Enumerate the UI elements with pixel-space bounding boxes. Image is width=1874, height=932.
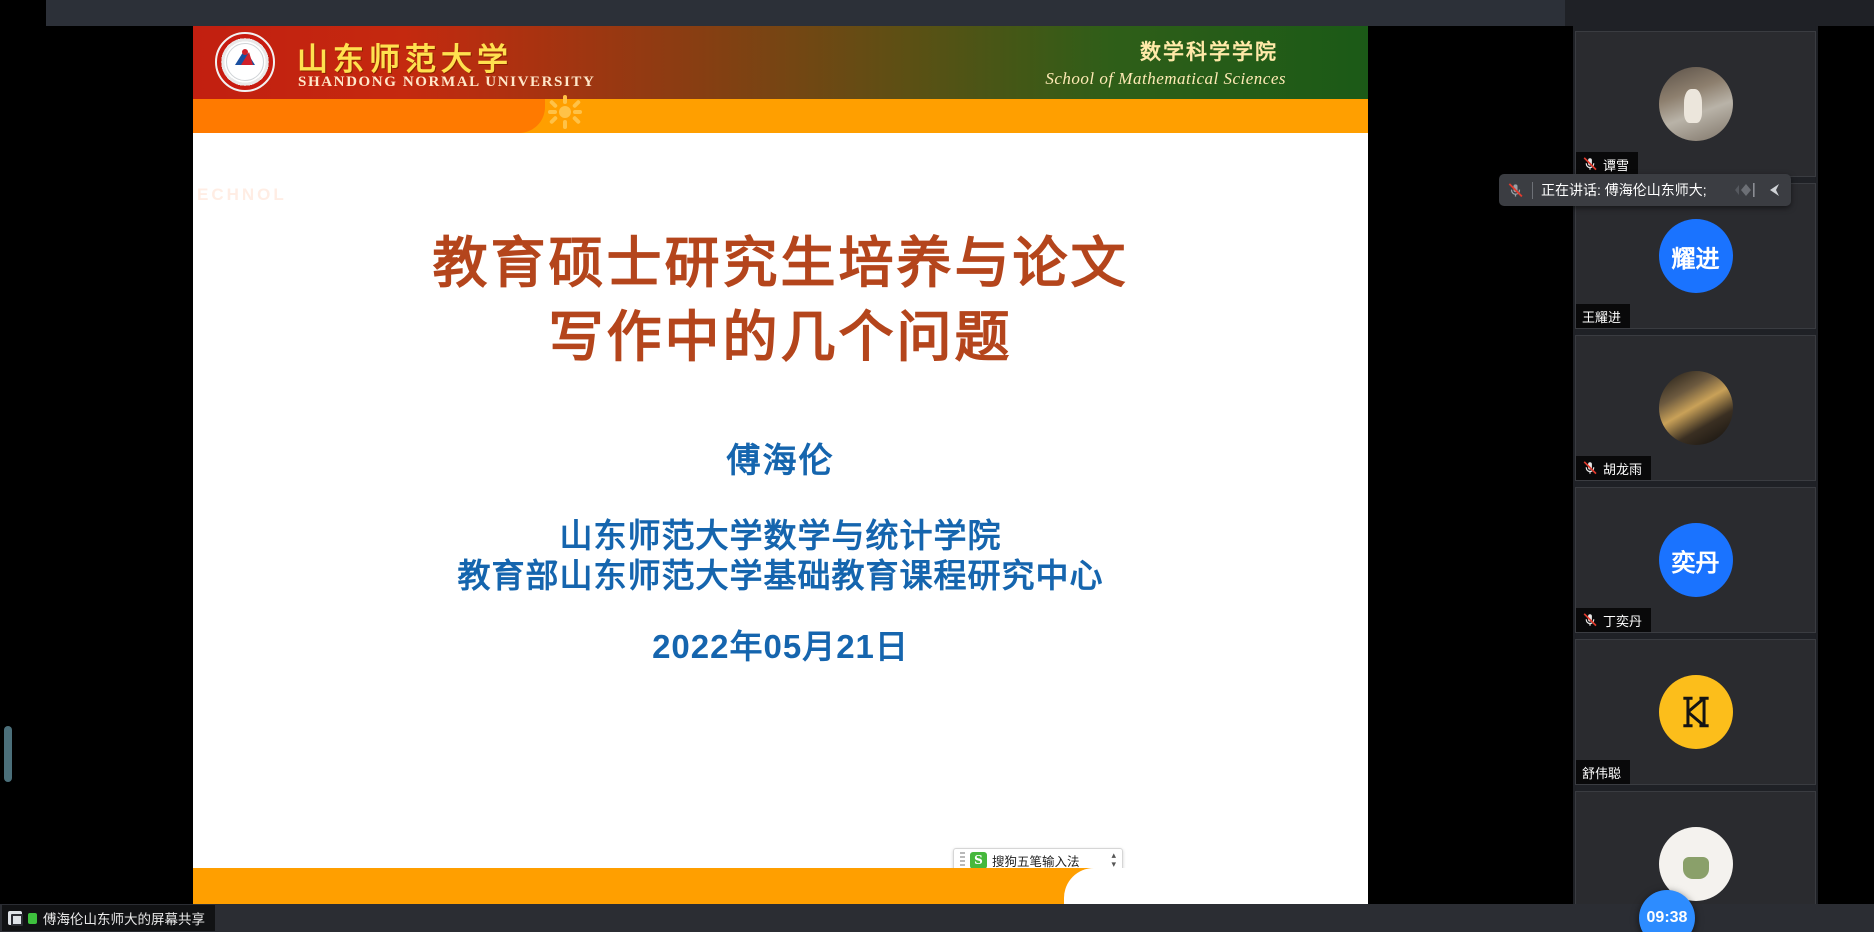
slide-content: 教育硕士研究生培养与论文 写作中的几个问题 傅海伦 山东师范大学数学与统计学院 … xyxy=(193,133,1368,868)
banner-school-cn: 数学科学学院 xyxy=(1140,36,1278,66)
participant-label: 丁奕丹 xyxy=(1576,608,1651,632)
slide-org-line1: 山东师范大学数学与统计学院 xyxy=(193,516,1368,556)
band-notch xyxy=(193,99,545,133)
shared-screen-slide: 山东师范大学 SHANDONG NORMAL UNIVERSITY 数学科学学院… xyxy=(193,26,1368,906)
taskbar-item-label: 傅海伦山东师大的屏幕共享 xyxy=(43,908,205,928)
bottom-band-notch xyxy=(1064,868,1368,906)
left-black-gutter xyxy=(0,26,193,880)
scrollbar-thumb[interactable] xyxy=(4,726,12,782)
window-chrome-bar xyxy=(0,0,1874,26)
participant-label: 谭雪 xyxy=(1576,152,1638,176)
taskbar: 傅海伦山东师大的屏幕共享 xyxy=(0,904,1874,932)
banner-divider xyxy=(1532,182,1533,199)
banner-university-cn: 山东师范大学 xyxy=(297,34,513,79)
participant-tile[interactable]: 舒伟聪 xyxy=(1575,639,1816,785)
avatar xyxy=(1659,675,1733,749)
slide-title-line2: 写作中的几个问题 xyxy=(193,300,1368,374)
participant-name: 谭雪 xyxy=(1603,155,1629,174)
mic-muted-icon xyxy=(1582,460,1598,476)
participant-name: 丁奕丹 xyxy=(1603,611,1642,630)
slide-title: 教育硕士研究生培养与论文 写作中的几个问题 xyxy=(193,226,1368,373)
participant-tile[interactable]: 胡龙雨 xyxy=(1575,335,1816,481)
participants-panel: 谭雪 耀进 王耀进 胡龙雨 奕丹 xyxy=(1573,26,1818,906)
slide-header-banner: 山东师范大学 SHANDONG NORMAL UNIVERSITY 数学科学学院… xyxy=(193,26,1368,99)
mic-muted-icon xyxy=(1582,156,1598,172)
speaking-indicator-banner[interactable]: 正在讲话: 傅海伦山东师大; xyxy=(1499,174,1791,206)
participant-label: 胡龙雨 xyxy=(1576,456,1651,480)
avatar: 奕丹 xyxy=(1659,523,1733,597)
screen-root: 山东师范大学 SHANDONG NORMAL UNIVERSITY 数学科学学院… xyxy=(0,0,1874,932)
kyrie-logo-icon xyxy=(1673,689,1719,735)
speaking-text: 正在讲话: 傅海伦山东师大; xyxy=(1541,180,1707,200)
banner-action-icons[interactable] xyxy=(1735,180,1783,200)
mic-muted-icon xyxy=(1507,182,1524,199)
participant-tile[interactable]: 谭雪 xyxy=(1575,31,1816,177)
slide-author: 傅海伦 xyxy=(193,433,1368,482)
ime-drag-handle[interactable] xyxy=(960,852,965,868)
participant-name: 胡龙雨 xyxy=(1603,459,1642,478)
ime-label: 搜狗五笔输入法 xyxy=(992,851,1080,870)
up-down-caret-icon[interactable]: ▴▾ xyxy=(1111,851,1116,869)
participant-label: 舒伟聪 xyxy=(1576,760,1630,784)
recording-dot-icon xyxy=(28,913,37,924)
right-black-gutter xyxy=(1368,26,1573,880)
sogou-logo-icon: S xyxy=(970,852,987,869)
slide-bottom-band xyxy=(193,868,1368,906)
slide-accent-band: ECHNOL xyxy=(193,99,1368,133)
avatar xyxy=(1659,371,1733,445)
mic-muted-icon xyxy=(1582,612,1598,628)
slide-organization: 山东师范大学数学与统计学院 教育部山东师范大学基础教育课程研究中心 xyxy=(193,516,1368,595)
banner-university-en: SHANDONG NORMAL UNIVERSITY xyxy=(298,74,595,91)
participant-name: 王耀进 xyxy=(1582,307,1621,326)
chrome-right-filler xyxy=(1565,0,1874,26)
minimize-arrow-icon[interactable] xyxy=(1763,181,1783,199)
participant-label: 王耀进 xyxy=(1576,304,1630,328)
taskbar-item-screen-share[interactable]: 傅海伦山东师大的屏幕共享 xyxy=(2,905,215,931)
university-seal-icon xyxy=(215,32,275,92)
view-layout-icon[interactable] xyxy=(1735,180,1757,200)
sun-burst-icon xyxy=(548,95,582,129)
screen-share-icon xyxy=(8,911,22,925)
banner-school-en: School of Mathematical Sciences xyxy=(1045,69,1286,89)
participant-name: 舒伟聪 xyxy=(1582,763,1621,782)
participant-tile[interactable]: 奕丹 丁奕丹 xyxy=(1575,487,1816,633)
slide-date: 2022年05月21日 xyxy=(193,620,1368,668)
avatar xyxy=(1659,67,1733,141)
slide-title-line1: 教育硕士研究生培养与论文 xyxy=(193,226,1368,300)
seal-emblem-icon xyxy=(231,45,259,71)
avatar: 耀进 xyxy=(1659,219,1733,293)
chrome-left-filler xyxy=(0,0,46,26)
slide-org-line2: 教育部山东师范大学基础教育课程研究中心 xyxy=(193,556,1368,596)
